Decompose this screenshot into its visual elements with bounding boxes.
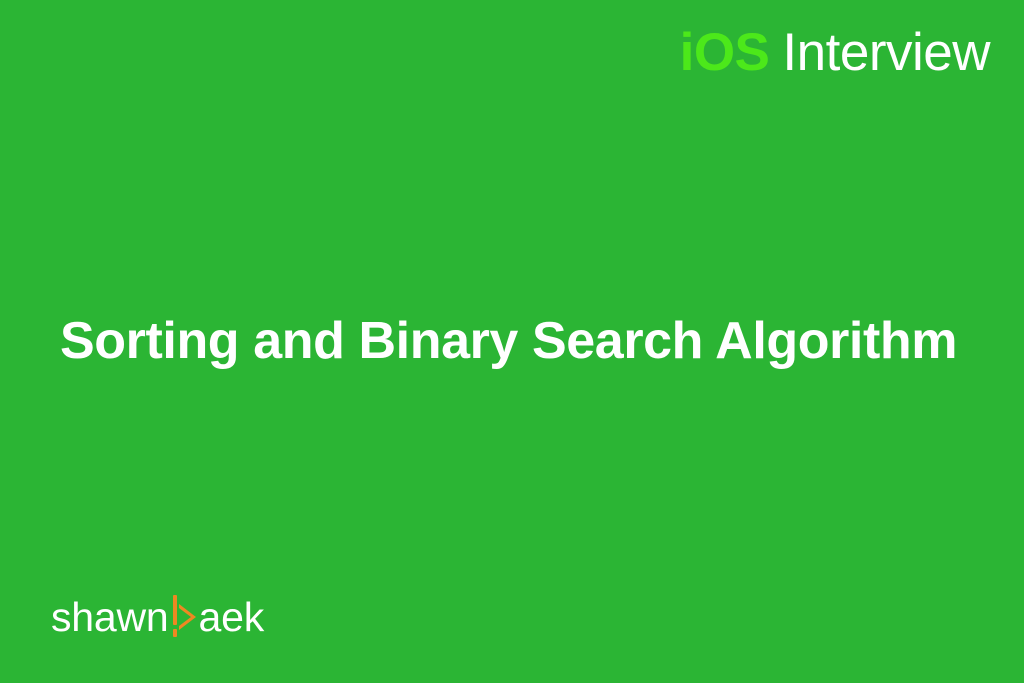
brand-logo: shawn aek (51, 595, 264, 639)
logo-text-prefix: shawn (51, 597, 169, 638)
logo-b-dot (173, 629, 177, 637)
logo-text-suffix: aek (199, 597, 265, 638)
logo-b-triangle-cutout (179, 608, 191, 626)
presentation-slide: iOS Interview Sorting and Binary Search … (0, 0, 1024, 683)
page-title: Sorting and Binary Search Algorithm (60, 312, 957, 372)
slide-title-container: Sorting and Binary Search Algorithm (60, 0, 990, 683)
logo-b-stem (173, 595, 177, 625)
logo-play-b-icon (171, 595, 198, 639)
